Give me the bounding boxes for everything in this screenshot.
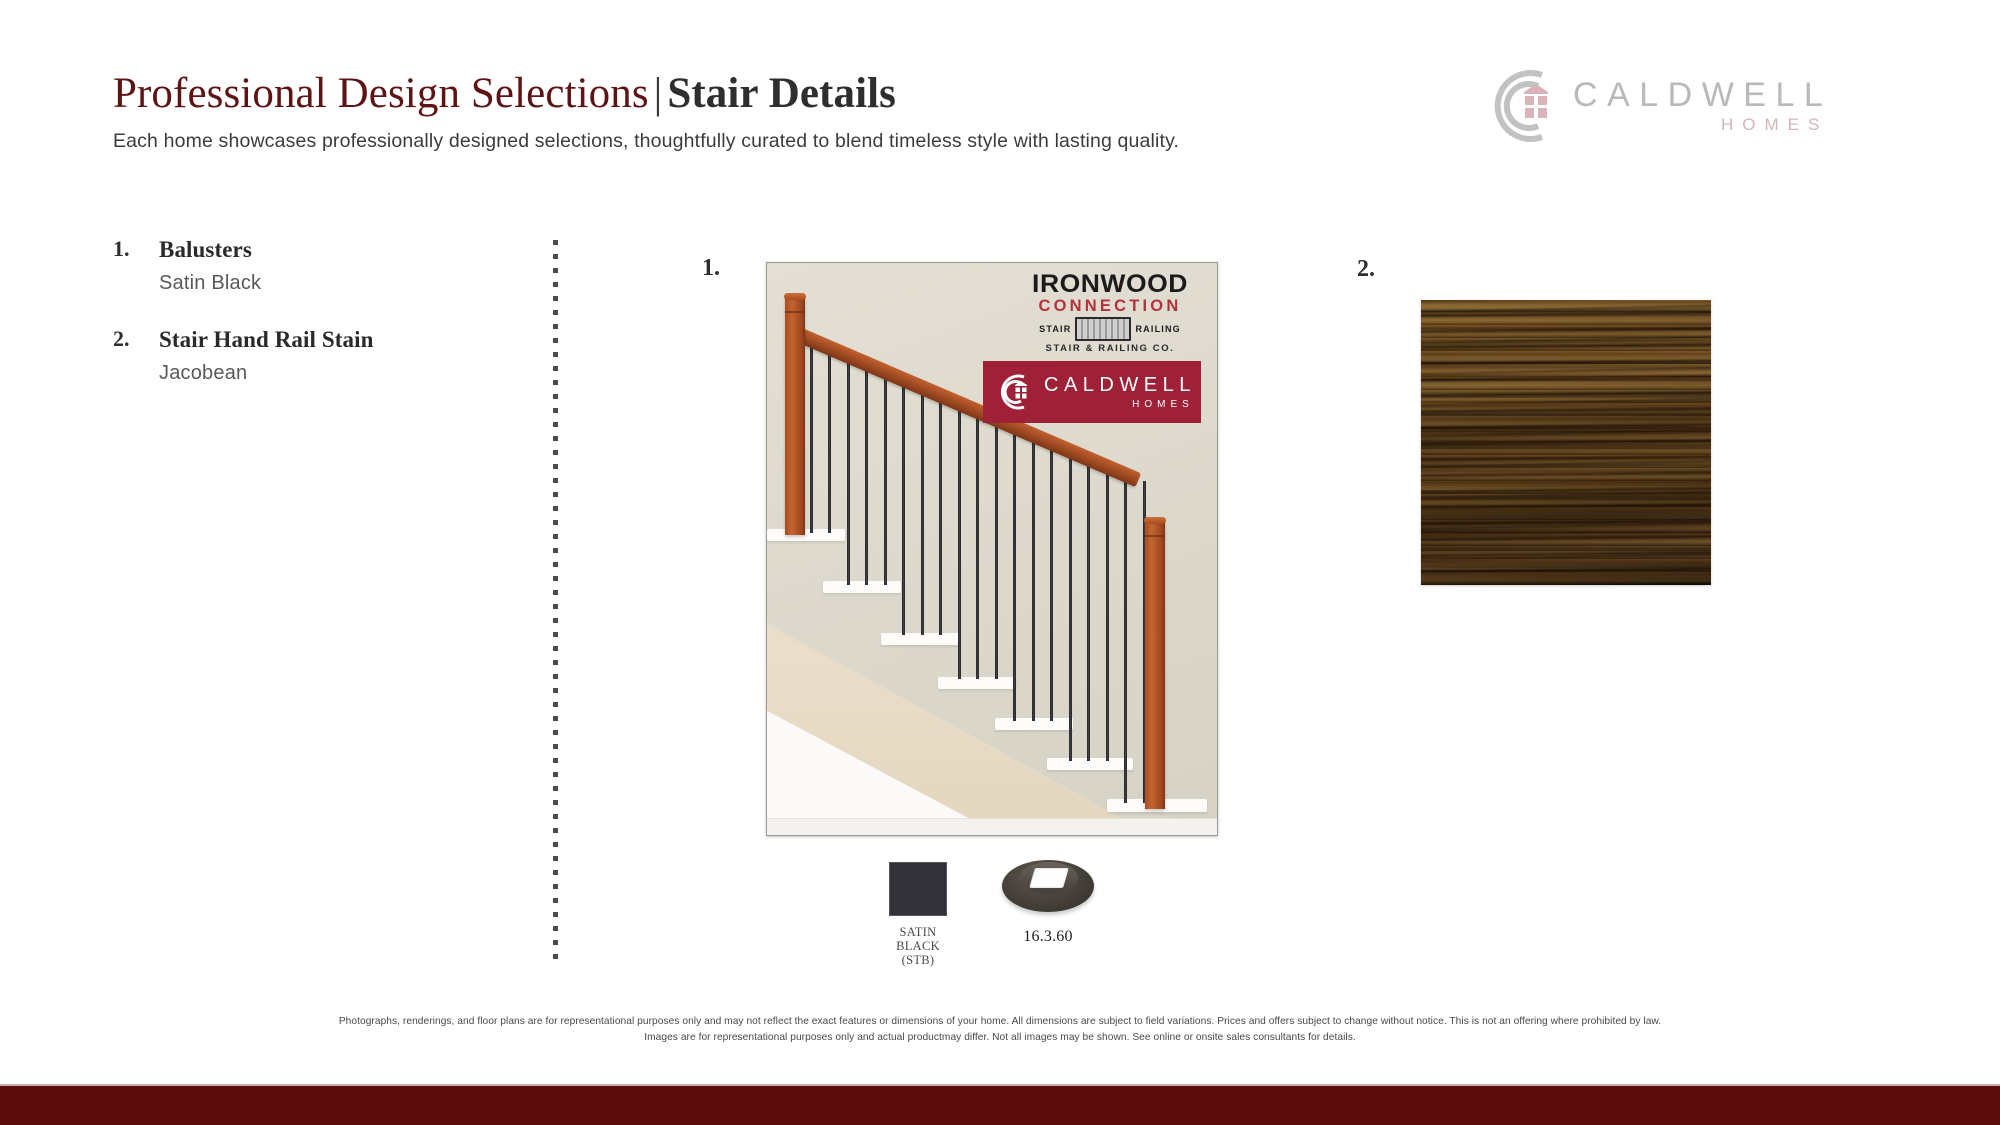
marker-two: 2. [1357,256,1375,283]
brand-sub: HOMES [1573,114,1832,136]
photo-baluster [921,385,924,635]
photo-baluster [1106,465,1109,761]
ironwood-connection-logo: IRONWOOD CONNECTION STAIR RAILING STAIR … [1020,271,1200,359]
photo-step [1047,758,1133,770]
shoe-hole [1029,868,1069,888]
list-item: 2. Stair Hand Rail Stain Jacobean [113,325,513,387]
photo-baluster [1032,433,1035,721]
satin-black-chip [889,862,947,916]
brand-name: CALDWELL [1573,76,1832,114]
list-item-value: Satin Black [159,270,513,297]
photo-newel-cap-top [784,293,806,300]
page-title-sub: Stair Details [667,70,896,117]
baluster-shoe-icon [1002,854,1094,916]
caldwell-badge-name: CALDWELL [1044,375,1196,395]
photo-baluster [995,417,998,679]
stair-railing-photo: IRONWOOD CONNECTION STAIR RAILING STAIR … [766,262,1218,836]
ironwood-railing-word: RAILING [1135,324,1180,334]
photo-step [881,633,959,645]
photo-baluster [902,377,905,635]
baluster-shoe-number: 16.3.60 [1000,928,1096,946]
page-title: Professional Design Selections|Stair Det… [113,68,896,120]
photo-baluster [847,353,850,585]
photo-baluster [828,345,831,533]
caldwell-badge: CALDWELL HOMES [983,361,1201,423]
list-item-title: Stair Hand Rail Stain [159,325,513,355]
disclaimer-text: Photographs, renderings, and floor plans… [330,1014,1670,1045]
wood-grain-overlay-secondary [1421,300,1711,585]
product-swatch-row: SATIN BLACK (STB) 16.3.60 [860,862,1140,972]
vertical-dotted-divider [553,240,558,962]
photo-newel-post-top [785,295,805,535]
photo-baluster [1124,473,1127,803]
photo-newel-cap-bottom [1144,517,1166,524]
ironwood-arc-tagline: STAIR & RAILING CO. [1020,343,1200,354]
page-subtitle: Each home showcases professionally desig… [113,127,1179,155]
photo-step [767,529,845,541]
satin-black-caption: SATIN BLACK (STB) [888,925,948,967]
photo-baluster [939,393,942,635]
selections-list: 1. Balusters Satin Black 2. Stair Hand R… [113,235,513,415]
photo-baluster [1069,449,1072,761]
photo-baluster [958,401,961,679]
photo-newel-post-bottom [1145,519,1165,809]
photo-newel-line-top [785,311,805,313]
ironwood-tagline-row: STAIR RAILING [1020,317,1200,341]
footer-bar [0,1086,2000,1125]
railing-gate-icon [1075,317,1131,341]
caldwell-c-house-icon [1480,62,1568,150]
list-item-title: Balusters [159,235,513,265]
caldwell-badge-sub: HOMES [1044,400,1196,410]
list-item: 1. Balusters Satin Black [113,235,513,297]
photo-step [823,581,901,593]
list-item-number: 2. [113,326,149,352]
satin-black-caption-line2: BLACK (STB) [896,939,940,967]
slide-header: Professional Design Selections|Stair Det… [0,0,2000,175]
photo-baluster [976,409,979,679]
baluster-shoe-swatch: 16.3.60 [1000,854,1096,946]
page-title-main: Professional Design Selections [113,70,649,117]
photo-newel-line-bottom [1145,535,1165,537]
satin-black-swatch: SATIN BLACK (STB) [888,862,948,967]
photo-baluster [1050,441,1053,721]
photo-baluster [1013,425,1016,721]
caldwell-badge-icon [995,372,1035,412]
photo-floor [767,819,1217,835]
connection-wordmark: CONNECTION [1020,297,1200,316]
list-item-value: Jacobean [159,360,513,387]
ironwood-wordmark: IRONWOOD [1015,271,1206,297]
list-item-number: 1. [113,236,149,262]
jacobean-stain-swatch [1421,300,1711,585]
satin-black-caption-line1: SATIN [900,925,937,939]
caldwell-homes-logo: CALDWELL HOMES [1480,62,1870,150]
photo-baluster [810,337,813,533]
photo-baluster [1087,457,1090,761]
photo-baluster [865,361,868,585]
presentation-slide: Professional Design Selections|Stair Det… [0,0,2000,1125]
brand-wordmark: CALDWELL HOMES [1573,76,1832,136]
caldwell-badge-text: CALDWELL HOMES [1044,375,1196,410]
ironwood-stair-word: STAIR [1039,324,1071,334]
page-title-separator: | [649,70,668,117]
marker-one: 1. [702,255,720,282]
photo-baluster [884,369,887,585]
